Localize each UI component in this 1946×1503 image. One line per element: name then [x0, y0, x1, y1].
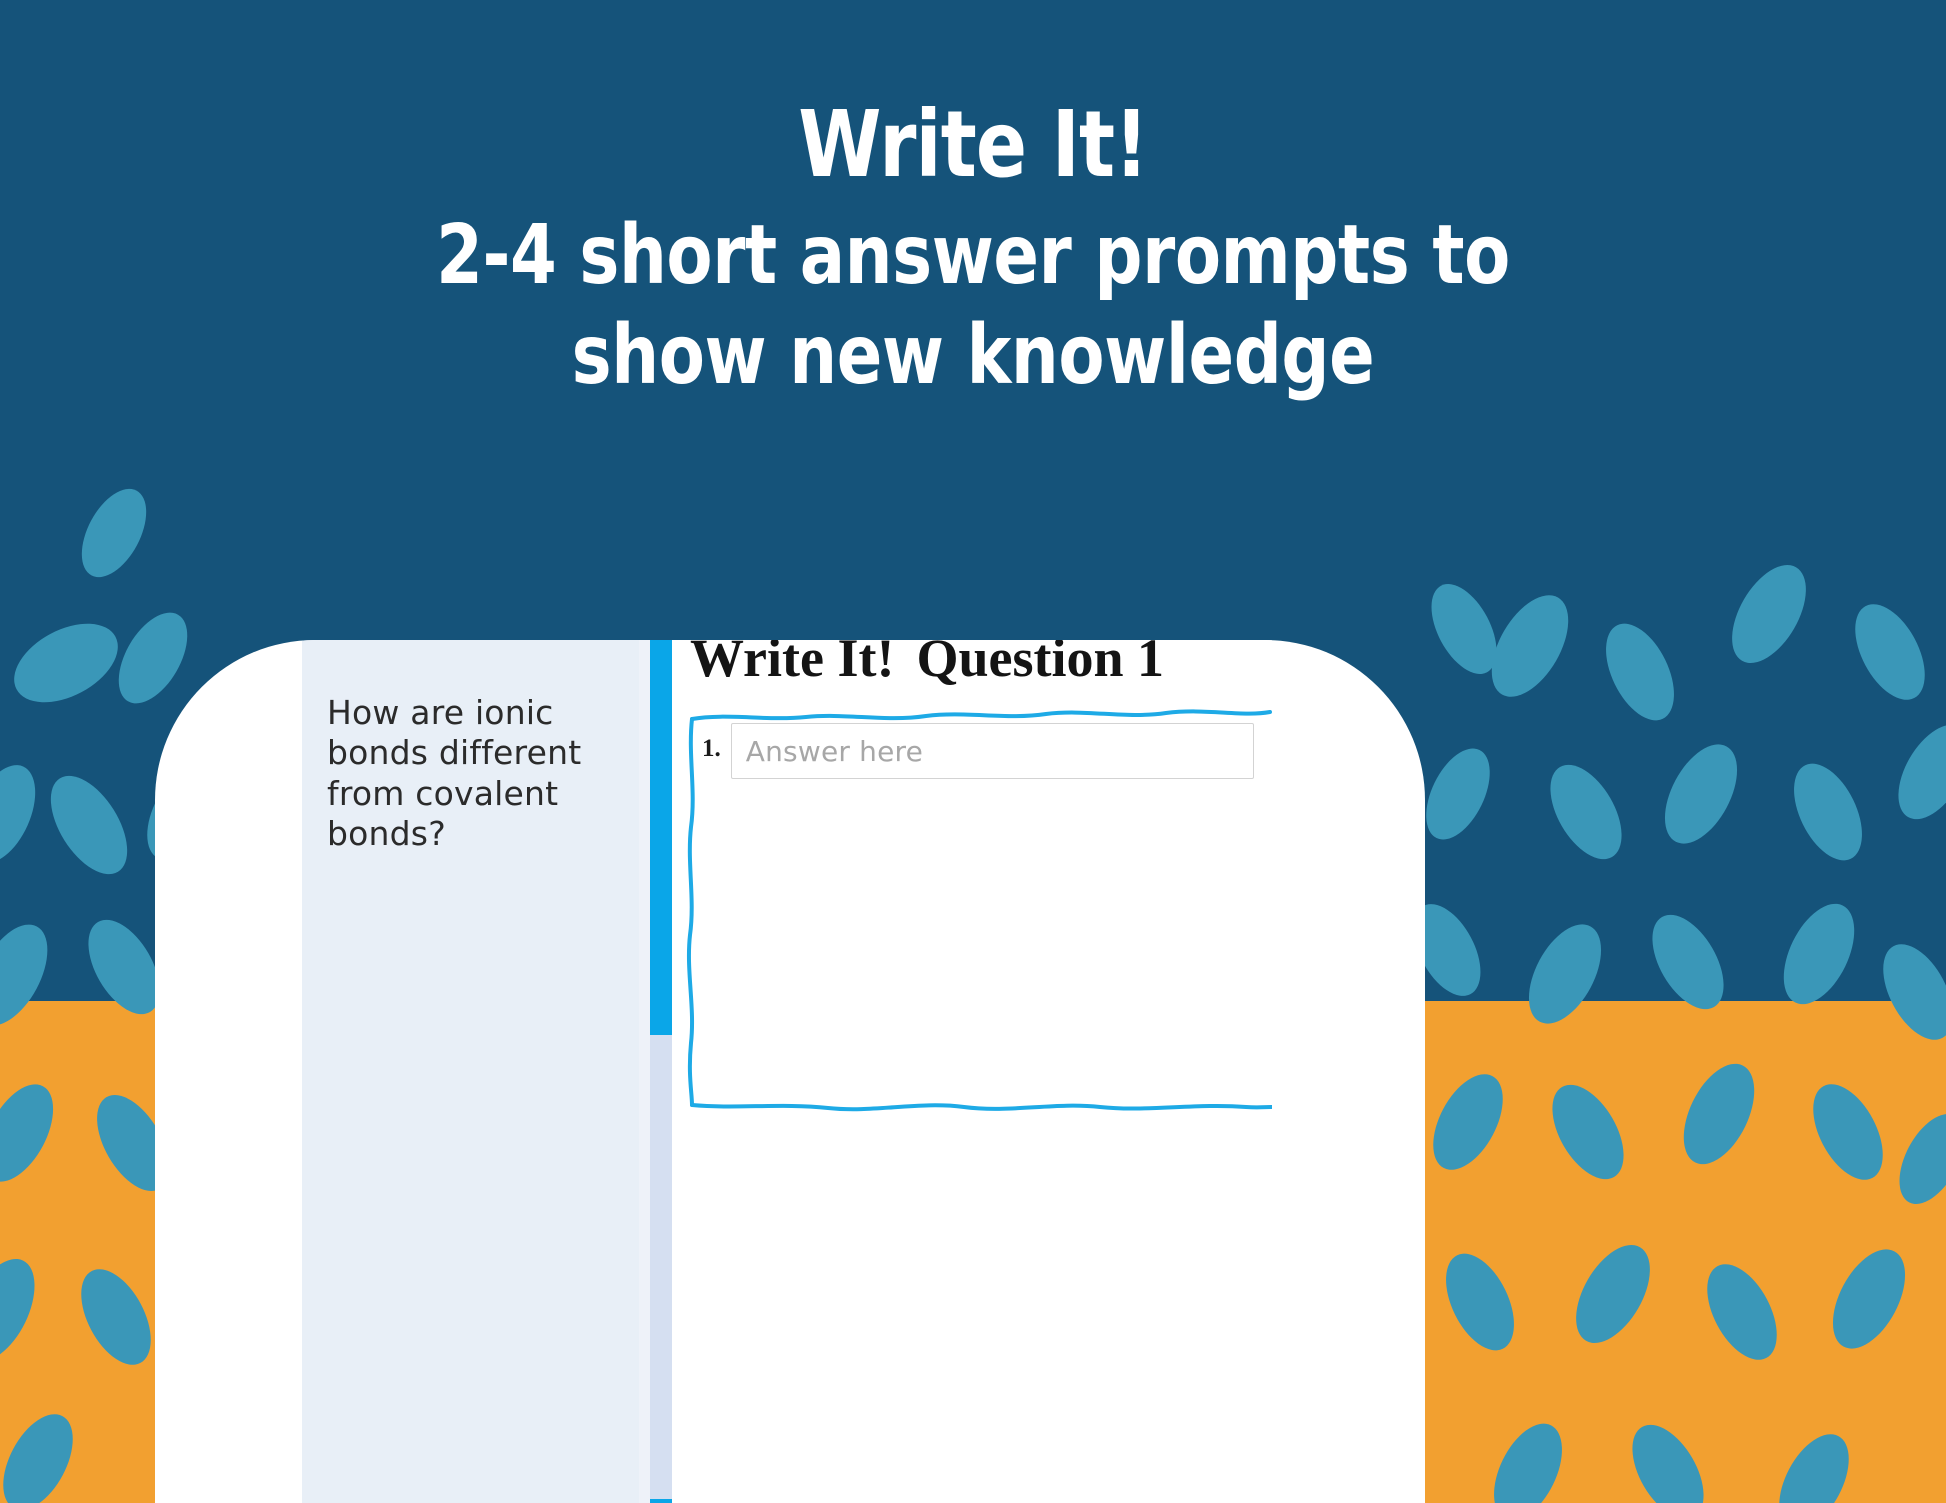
slide-preview: How are ionic bonds different from coval… [302, 640, 1272, 1503]
scrollbar-track[interactable] [650, 1035, 672, 1499]
headline-title: Write It! [175, 95, 1771, 194]
answer-number-label: 1. [698, 723, 731, 779]
headline-subtitle-line-1: 2-4 short answer prompts to [175, 206, 1771, 306]
answer-row: 1. Answer here [698, 723, 1254, 779]
question-panel: How are ionic bonds different from coval… [302, 640, 650, 1503]
answer-panel: Write It!Question 1 1. Answer here [672, 640, 1272, 1503]
heading-label-write-it: Write It! [690, 640, 894, 688]
answer-panel-heading: Write It!Question 1 [690, 640, 1164, 689]
slide-headline: Write It! 2-4 short answer prompts to sh… [0, 95, 1946, 406]
slide-canvas: Write It! 2-4 short answer prompts to sh… [0, 0, 1946, 1503]
preview-card: How are ionic bonds different from coval… [155, 640, 1425, 1503]
heading-label-question-number: Question 1 [916, 640, 1164, 688]
question-prompt-text: How are ionic bonds different from coval… [327, 693, 627, 854]
headline-subtitle-line-2: show new knowledge [175, 306, 1771, 406]
answer-input-field[interactable]: Answer here [731, 723, 1254, 779]
answer-input-placeholder: Answer here [746, 735, 923, 768]
